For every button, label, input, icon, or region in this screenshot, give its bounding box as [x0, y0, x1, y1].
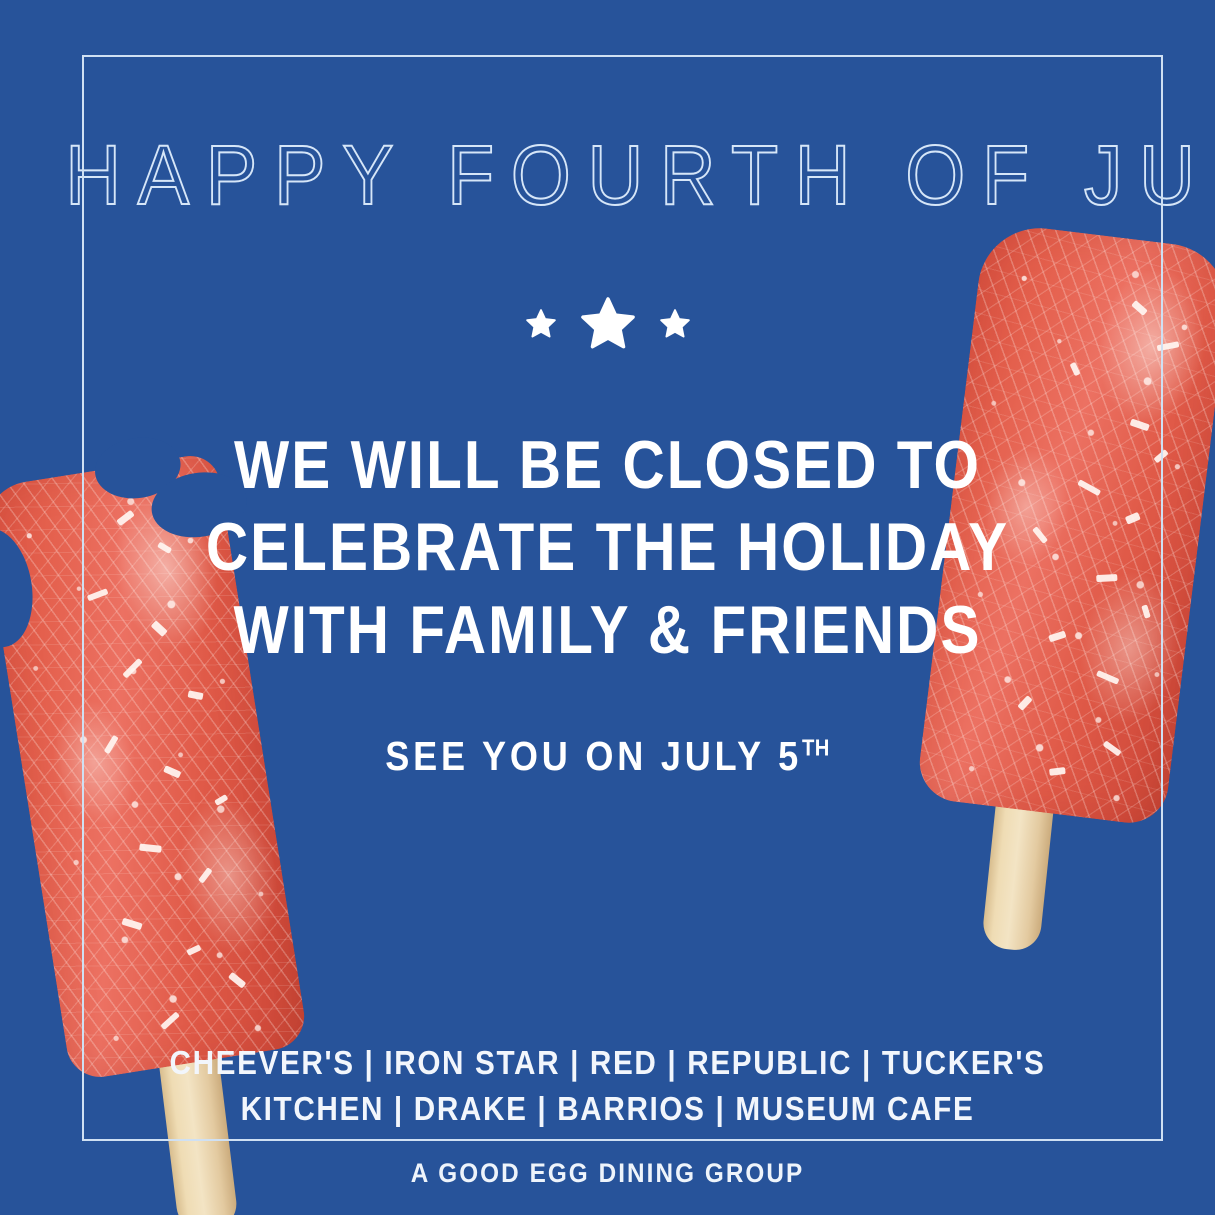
venue-list-line-2: KITCHEN | DRAKE | BARRIOS | MUSEUM CAFE [61, 1086, 1155, 1132]
venue-list-line-1: CHEEVER'S | IRON STAR | RED | REPUBLIC |… [61, 1040, 1155, 1086]
star-icon-large-center [579, 295, 637, 353]
poster-canvas: HAPPY FOURTH OF JULY! WE WILL BE CLOSED … [0, 0, 1215, 1215]
reopen-date-ordinal: TH [802, 734, 830, 760]
star-icon-small-left [525, 308, 557, 340]
poster-content: HAPPY FOURTH OF JULY! WE WILL BE CLOSED … [0, 0, 1215, 1215]
star-divider [0, 292, 1215, 356]
page-title: HAPPY FOURTH OF JULY! [49, 133, 1167, 217]
company-name: A GOOD EGG DINING GROUP [61, 1160, 1155, 1187]
closure-message-line-3: WITH FAMILY & FRIENDS [85, 589, 1130, 671]
closure-message-line-2: CELEBRATE THE HOLIDAY [85, 506, 1130, 588]
venue-list: CHEEVER'S | IRON STAR | RED | REPUBLIC |… [61, 1040, 1155, 1132]
star-icon-small-right [659, 308, 691, 340]
reopen-date-text: SEE YOU ON JULY 5TH [73, 736, 1142, 777]
closure-message-line-1: WE WILL BE CLOSED TO [85, 424, 1130, 506]
reopen-date-main: SEE YOU ON JULY 5 [385, 733, 802, 779]
closure-message: WE WILL BE CLOSED TO CELEBRATE THE HOLID… [85, 424, 1130, 671]
